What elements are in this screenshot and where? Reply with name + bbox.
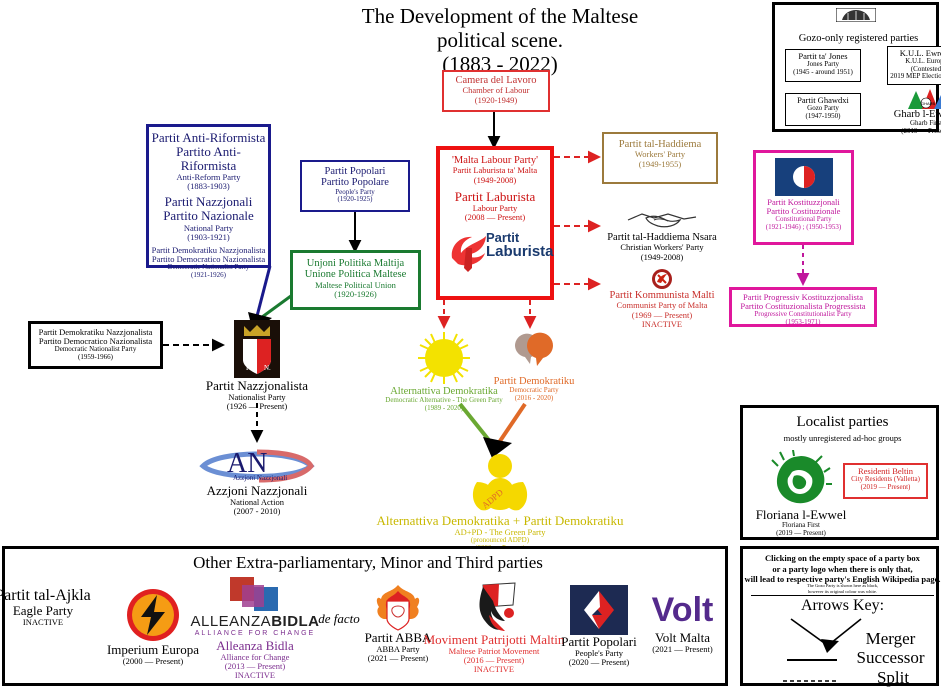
azzjoni-nazzjonali-logo: AN Azzjoni Nazzjonali — [197, 440, 317, 484]
pn-name-mt: Partit Nazzjonalista — [196, 379, 318, 393]
labour-years: (1949-2008) — [440, 176, 550, 185]
diagram-canvas: The Development of the Maltese political… — [0, 0, 941, 688]
party-group-azzjoni-nazzjonali[interactable]: AN Azzjoni Nazzjonali Azzjoni Nazzjonali… — [193, 440, 321, 516]
ajkla-name-en: Eagle Party — [0, 604, 103, 618]
ad-sun-icon — [416, 330, 472, 386]
party-group-partit-tal-ajkla[interactable]: Partit tal-Ajkla Eagle Party INACTIVE — [0, 587, 103, 627]
alleanza-name-mt: Alleanza Bidla — [180, 639, 330, 653]
haddiema-years: (1949-1955) — [604, 160, 716, 169]
party-group-alternattiva-demokratika[interactable]: Alternattiva Demokratika Democratic Alte… — [385, 330, 503, 412]
key-successor-label: Successor — [841, 648, 940, 668]
party-box-partit-popolari-1920[interactable]: Partit Popolari Partito Popolare People'… — [300, 160, 410, 212]
alleanza-status: INACTIVE — [180, 671, 330, 680]
camera-years: (1920-1949) — [444, 96, 548, 105]
party-group-floriana-l-ewwel[interactable]: Floriana l-Ewwel Floriana First (2019 — … — [749, 450, 853, 537]
gozo-panel: Gozo-only registered parties Partit ta' … — [772, 2, 939, 132]
patrijotti-status: INACTIVE — [423, 665, 565, 674]
key-note-line-1: Clicking on the empty space of a party b… — [743, 553, 941, 564]
successor-line-icon — [787, 659, 837, 661]
party-box-anti-riformista[interactable]: Partit Anti-Riformista Partito Anti-Rifo… — [146, 124, 271, 268]
key-merger-label: Merger — [843, 629, 938, 649]
key-fineprint-line-2: however its original colour was white. — [743, 589, 941, 595]
party-group-adpd[interactable]: ADPD Alternattiva Demokratika + Partit D… — [360, 452, 640, 552]
unjoni-name-it: Unione Politica Maltese — [293, 269, 418, 280]
volt-name-mt: Volt Malta — [635, 631, 730, 645]
arrows-key-panel: Clicking on the empty space of a party b… — [740, 546, 939, 686]
split-line-icon — [783, 678, 839, 684]
alleanza-logo-text-1: ALLEANZA — [190, 613, 271, 630]
key-note: Clicking on the empty space of a party b… — [743, 553, 941, 585]
kommunista-status: INACTIVE — [598, 320, 726, 329]
nsara-years: (1949-2008) — [598, 253, 726, 262]
key-divider — [751, 595, 934, 596]
patrijotti-flagbearer-icon — [463, 581, 525, 633]
popolari-name-it: Partito Popolare — [302, 177, 408, 188]
party-box-camera-del-lavoro[interactable]: Camera del Lavoro Chamber of Labour (192… — [442, 70, 550, 112]
handshake-icon — [624, 208, 700, 232]
constitutional-party-flag-icon — [775, 158, 833, 196]
party-group-nazzjonalista[interactable]: P. N. Partit Nazzjonalista Nationalist P… — [196, 320, 318, 411]
ajkla-status: INACTIVE — [0, 618, 103, 627]
key-fineprint: The Gozo Party is shown here as black, h… — [743, 583, 941, 595]
floriana-lion-icon — [770, 450, 832, 508]
abba-logo-icon — [373, 585, 423, 631]
popolari-years: (1920-1925) — [302, 196, 408, 204]
party-group-partit-popolari-2020[interactable]: Partit Popolari People's Party (2020 — P… — [553, 585, 645, 667]
nazzjonali-years: (1903-1921) — [149, 233, 268, 242]
bottom-heading: Other Extra-parliamentary, Minor and Thi… — [5, 553, 731, 573]
floriana-years: (2019 — Present) — [749, 530, 853, 538]
party-group-haddiema-nsara[interactable]: Partit tal-Haddiema Nsara Christian Work… — [598, 208, 726, 262]
pdn-years: (1959-1966) — [31, 354, 160, 362]
an-name-mt: Azzjoni Nazzjonali — [193, 484, 321, 498]
popolari-2020-logo-icon — [570, 585, 628, 635]
gozo-emblem-icon — [836, 8, 876, 22]
gozo-heading: Gozo-only registered parties — [775, 33, 941, 44]
title-line-1: The Development of the Maltese — [345, 4, 655, 28]
party-group-alleanza-bidla[interactable]: ALLEANZABIDLA ALLIANCE FOR CHANGE Allean… — [180, 577, 330, 681]
party-box-partit-laburista[interactable]: 'Malta Labour Party' Partit Laburista ta… — [436, 146, 554, 300]
alleanza-bidla-squares-icon — [224, 577, 286, 613]
party-box-progressiv-kostituzzjonalista[interactable]: Partit Progressiv Kostituzzjonalista Par… — [729, 287, 877, 327]
adpd-name-mt: Alternattiva Demokratika + Partit Demokr… — [360, 514, 640, 528]
title-line-2: political scene. — [345, 28, 655, 52]
extra-parliamentary-panel: Other Extra-parliamentary, Minor and Thi… — [2, 546, 728, 686]
floriana-name-mt: Floriana l-Ewwel — [749, 508, 853, 522]
ad-years: (1989 - 2020) — [385, 405, 503, 413]
page-title: The Development of the Maltese political… — [345, 4, 655, 76]
key-split-label: Split — [847, 668, 939, 688]
prog-years: (1953-1971) — [732, 319, 874, 327]
gharb-years: (2019 — Present) — [883, 128, 941, 136]
imperium-europa-logo-icon — [125, 587, 181, 643]
pn-years: (1926 — Present) — [196, 402, 318, 411]
party-group-kommunista[interactable]: Partit Kommunista Malti Communist Party … — [598, 268, 726, 329]
labour-logo-text-2: Laburista — [486, 244, 554, 259]
beltin-years: (2019 — Present) — [845, 484, 926, 492]
party-box-partit-ta-jones[interactable]: Partit ta' Jones Jones Party (1945 - aro… — [785, 49, 861, 82]
kost-years: (1921-1946) ; (1950-1953) — [756, 224, 851, 232]
party-box-unjoni-politika-maltija[interactable]: Unjoni Politika Maltija Unione Politica … — [290, 250, 421, 310]
antiriformista-name-it: Partito Anti-Riformista — [149, 145, 268, 173]
key-heading: Arrows Key: — [743, 597, 941, 615]
svg-text:GHARB: GHARB — [921, 101, 936, 106]
jones-years: (1945 - around 1951) — [786, 69, 860, 77]
unjoni-name-mt: Unjoni Politika Maltija — [293, 258, 418, 269]
an-years: (2007 - 2010) — [193, 507, 321, 516]
popolari2020-name-mt: Partit Popolari — [553, 635, 645, 649]
svg-text:Azzjoni Nazzjonali: Azzjoni Nazzjonali — [233, 474, 287, 482]
gharb-first-logo-icon: GHARB — [904, 87, 941, 109]
volt-years: (2021 — Present) — [635, 645, 730, 654]
localist-panel: Localist parties mostly unregistered ad-… — [740, 405, 939, 540]
localist-heading: Localist parties — [743, 414, 941, 431]
pd-years: (2016 - 2020) — [489, 395, 579, 403]
popolari2020-years: (2020 — Present) — [553, 658, 645, 667]
popolari-name-mt: Partit Popolari — [302, 166, 408, 177]
antiriformista-name-mt: Partit Anti-Riformista — [149, 131, 268, 145]
nationalist-party-crest-icon: P. N. — [234, 320, 280, 378]
patrijotti-name-mt: Moviment Patrijotti Maltin — [423, 633, 565, 647]
party-box-partit-demokratiku-nazzjonalista[interactable]: Partit Demokratiku Nazzjonalista Partito… — [28, 321, 163, 369]
pd-speech-bubbles-icon — [509, 330, 559, 376]
adpd-logo-icon: ADPD — [465, 452, 535, 514]
svg-text:N.: N. — [264, 364, 271, 372]
party-group-volt-malta[interactable]: Volt Volt Malta (2021 — Present) — [635, 593, 730, 654]
svg-text:P.: P. — [246, 364, 251, 372]
labour-logo[interactable]: Partit Laburista — [440, 228, 550, 278]
pdn21-years: (1921-1926) — [149, 272, 268, 280]
communist-emblem-icon — [651, 268, 673, 290]
unjoni-years: (1920-1926) — [293, 290, 418, 299]
alleanza-logo-sub: ALLIANCE FOR CHANGE — [180, 630, 330, 637]
nazzjonali-name-it: Partito Nazionale — [149, 209, 268, 223]
party-box-residenti-beltin[interactable]: Residenti Beltin City Residents (Vallett… — [843, 463, 928, 499]
party-box-partit-kostituzzjonali[interactable]: Partit Kostituzzjonali Partito Costituzi… — [753, 150, 854, 245]
party-box-kul-ewropa[interactable]: K.U.L. Ewropa K.U.L. Europe (Contested 2… — [887, 46, 941, 85]
localist-subheading: mostly unregistered ad-hoc groups — [743, 433, 941, 443]
nazzjonali-name-mt: Partit Nazzjonali — [149, 195, 268, 209]
ghawdxi-years: (1947-1950) — [786, 113, 860, 121]
kul-years: 2019 MEP Election only) — [888, 73, 941, 81]
party-group-moviment-patrijotti[interactable]: Moviment Patrijotti Maltin Maltese Patri… — [423, 581, 565, 675]
volt-logo-text: Volt — [635, 593, 730, 627]
ajkla-name-mt: Partit tal-Ajkla — [0, 587, 103, 604]
party-group-partit-demokratiku[interactable]: Partit Demokratiku Democratic Party (201… — [489, 330, 579, 402]
antiriformista-years: (1883-1903) — [149, 182, 268, 191]
labour-years2: (2008 — Present) — [440, 213, 550, 222]
party-box-partit-ghawdxi[interactable]: Partit Ghawdxi Gozo Party (1947-1950) — [785, 93, 861, 126]
key-note-line-2: or a party logo when there is only that, — [743, 564, 941, 575]
party-group-gharb-l-ewwel[interactable]: GHARB Gharb l-Ewwel Gharb First (2019 — … — [883, 87, 941, 135]
party-box-partit-tal-haddiema[interactable]: Partit tal-Haddiema Workers' Party (1949… — [602, 132, 718, 184]
labour-name2-mt: Partit Laburista — [440, 190, 550, 204]
